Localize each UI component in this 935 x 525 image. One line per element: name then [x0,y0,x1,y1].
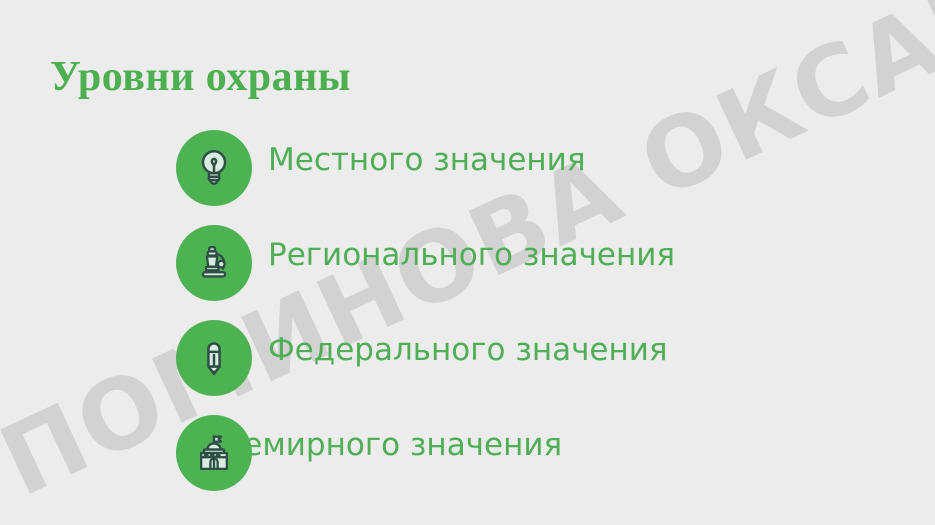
list-item[interactable]: Всемирного значения [0,405,935,500]
list-item-label: Всемирного значения [205,427,562,463]
slide-title: Уровни охраны [50,53,351,101]
list-item[interactable]: Местного значения [0,120,935,215]
list-item[interactable]: Регионального значения [0,215,935,310]
fortress-icon [176,415,252,491]
pencil-icon [176,320,252,396]
list-item-label: Регионального значения [268,237,675,273]
list-item-label: Местного значения [268,142,585,178]
list-item-label: Федерального значения [268,332,668,368]
slide-canvas: ПОМИНОВА ОКСАНА Уровни охраны Местного з… [0,0,935,525]
protection-levels-list: Местного значения Регионального значения [0,120,935,500]
microscope-icon [176,225,252,301]
lightbulb-icon [176,130,252,206]
list-item[interactable]: Федерального значения [0,310,935,405]
